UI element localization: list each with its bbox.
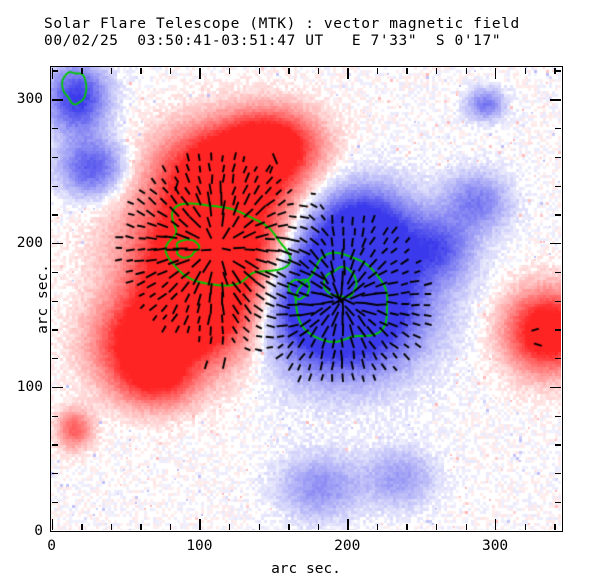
y-tick-left [52, 272, 58, 273]
x-tick-top [111, 68, 112, 74]
x-tick-bottom [347, 519, 348, 530]
y-tick-right [550, 531, 561, 532]
y-tick-right [555, 444, 561, 445]
y-tick-left [52, 444, 58, 445]
x-tick-top [495, 68, 496, 79]
y-tick-label: 200 [17, 235, 43, 251]
y-tick-right [550, 243, 561, 244]
x-tick-top [170, 68, 171, 74]
y-tick-left [52, 416, 58, 417]
x-tick-top [347, 68, 348, 79]
y-tick-left [52, 358, 58, 359]
x-tick-bottom [436, 524, 437, 530]
x-tick-top [288, 68, 289, 74]
x-tick-top [140, 68, 141, 74]
y-tick-left [52, 186, 58, 187]
contour-and-vector-overlay [51, 67, 561, 530]
x-tick-bottom [495, 519, 496, 530]
plot-title-line-1: Solar Flare Telescope (MTK) : vector mag… [44, 16, 520, 32]
y-tick-right [550, 99, 561, 100]
plot-title-line-2: 00/02/25 03:50:41-03:51:47 UT E 7'33" S … [44, 33, 501, 49]
x-tick-bottom [554, 524, 555, 530]
x-tick-bottom [81, 524, 82, 530]
x-tick-top [259, 68, 260, 74]
x-tick-top [199, 68, 200, 79]
y-tick-right [555, 358, 561, 359]
y-tick-label: 100 [17, 379, 43, 395]
y-tick-left [52, 214, 58, 215]
y-tick-label: 0 [34, 523, 43, 539]
x-tick-bottom [525, 524, 526, 530]
y-tick-left [52, 329, 58, 330]
x-tick-top [406, 68, 407, 74]
magnetogram-plot-frame [50, 66, 563, 532]
x-tick-bottom [199, 519, 200, 530]
y-axis-title: arc sec. [35, 264, 51, 334]
x-tick-top [229, 68, 230, 74]
y-tick-left [52, 128, 58, 129]
x-tick-bottom [52, 519, 53, 530]
x-tick-bottom [229, 524, 230, 530]
y-tick-left [52, 99, 63, 100]
y-tick-right [555, 128, 561, 129]
x-tick-bottom [318, 524, 319, 530]
y-tick-left [52, 531, 63, 532]
y-tick-right [555, 301, 561, 302]
x-tick-top [377, 68, 378, 74]
y-tick-label: 300 [17, 91, 43, 107]
y-tick-left [52, 157, 58, 158]
y-tick-left [52, 301, 58, 302]
x-tick-bottom [259, 524, 260, 530]
y-tick-right [555, 157, 561, 158]
x-tick-bottom [170, 524, 171, 530]
x-tick-top [525, 68, 526, 74]
y-tick-left [52, 473, 58, 474]
x-tick-label: 300 [482, 538, 508, 554]
x-tick-top [318, 68, 319, 74]
x-tick-top [466, 68, 467, 74]
x-tick-top [436, 68, 437, 74]
x-tick-bottom [466, 524, 467, 530]
y-tick-left [52, 243, 63, 244]
y-tick-right [555, 473, 561, 474]
y-tick-right [555, 329, 561, 330]
x-tick-top [52, 68, 53, 79]
x-tick-top [81, 68, 82, 74]
y-tick-right [555, 186, 561, 187]
x-tick-bottom [377, 524, 378, 530]
y-tick-left [52, 502, 58, 503]
y-tick-right [555, 416, 561, 417]
x-tick-label: 0 [47, 538, 56, 554]
y-tick-right [555, 502, 561, 503]
y-tick-right [555, 70, 561, 71]
y-tick-right [555, 214, 561, 215]
y-tick-left [52, 70, 58, 71]
x-tick-label: 100 [186, 538, 212, 554]
y-tick-left [52, 387, 63, 388]
y-tick-right [550, 387, 561, 388]
x-tick-bottom [406, 524, 407, 530]
x-tick-bottom [140, 524, 141, 530]
y-tick-right [555, 272, 561, 273]
x-tick-bottom [111, 524, 112, 530]
x-axis-title: arc sec. [271, 561, 341, 577]
x-tick-bottom [288, 524, 289, 530]
x-tick-label: 200 [334, 538, 360, 554]
